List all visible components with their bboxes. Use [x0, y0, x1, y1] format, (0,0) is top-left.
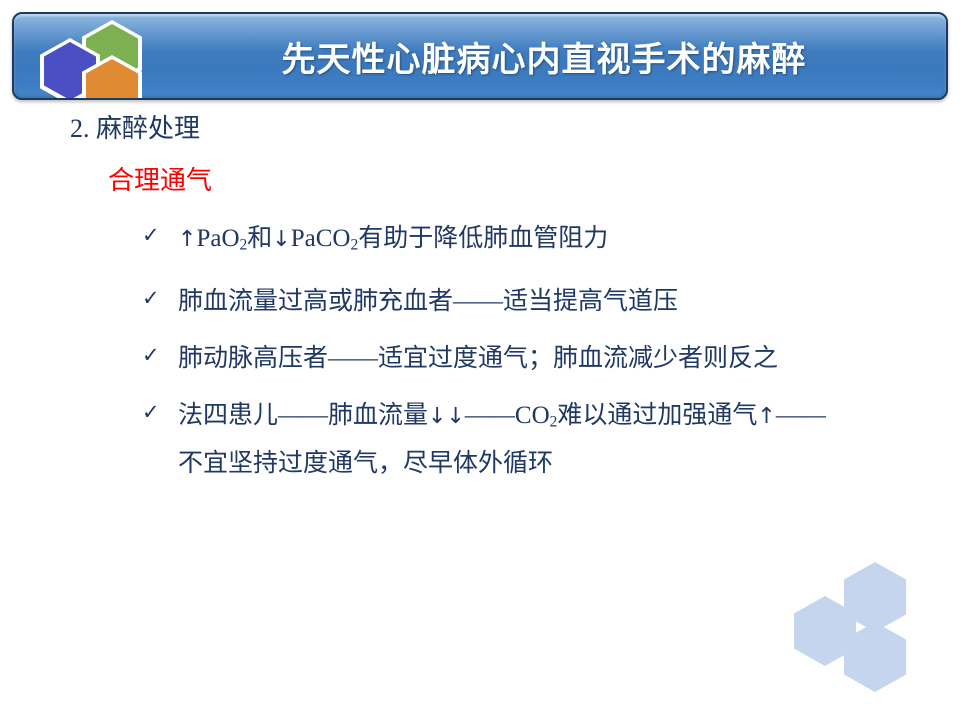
- bullet-text: ↑PaO2和↓PaCO2有助于降低肺血管阻力: [178, 218, 608, 265]
- bullet-text: 肺血流量过高或肺充血者——适当提高气道压: [178, 281, 678, 322]
- slide-header-bar: 先天性心脏病心内直视手术的麻醉: [12, 12, 948, 100]
- logo-hexagons: [40, 20, 158, 98]
- bullet-list: ✓↑PaO2和↓PaCO2有助于降低肺血管阻力✓肺血流量过高或肺充血者——适当提…: [140, 218, 960, 484]
- checkmark-icon: ✓: [140, 338, 178, 372]
- section-heading: 2. 麻醉处理: [70, 112, 960, 146]
- subsection-heading: 合理通气: [108, 164, 960, 198]
- bullet-item-pao2: ✓↑PaO2和↓PaCO2有助于降低肺血管阻力: [140, 218, 960, 265]
- bullet-text: 法四患儿——肺血流量↓↓——CO2难以通过加强通气↑——不宜坚持过度通气，尽早体…: [178, 395, 838, 483]
- bullet-item-tof: ✓法四患儿——肺血流量↓↓——CO2难以通过加强通气↑——不宜坚持过度通气，尽早…: [140, 395, 960, 483]
- decorative-hexagons: [790, 562, 930, 692]
- checkmark-icon: ✓: [140, 395, 178, 429]
- bullet-item-pulmonary-hypertension: ✓肺动脉高压者——适宜过度通气；肺血流减少者则反之: [140, 338, 960, 379]
- slide-title: 先天性心脏病心内直视手术的麻醉: [174, 14, 914, 98]
- slide-body: 2. 麻醉处理 合理通气 ✓↑PaO2和↓PaCO2有助于降低肺血管阻力✓肺血流…: [0, 112, 960, 500]
- bullet-text: 肺动脉高压者——适宜过度通气；肺血流减少者则反之: [178, 338, 778, 379]
- checkmark-icon: ✓: [140, 218, 178, 252]
- checkmark-icon: ✓: [140, 281, 178, 315]
- bullet-item-high-flow: ✓肺血流量过高或肺充血者——适当提高气道压: [140, 281, 960, 322]
